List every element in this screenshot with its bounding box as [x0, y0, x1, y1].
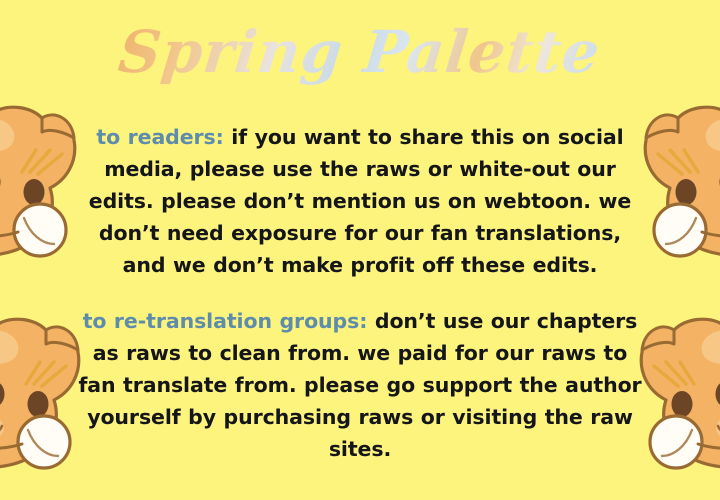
note-to-groups-lead: to re-translation groups:	[83, 309, 368, 333]
cat-eye-right	[672, 391, 693, 417]
poster-canvas: Spring Palette to readers: if you want t…	[0, 0, 720, 500]
note-to-readers: to readers: if you want to share this on…	[78, 121, 642, 281]
cat-figure	[0, 317, 79, 468]
cat-figure	[0, 105, 75, 256]
page-title: Spring Palette	[115, 14, 604, 90]
title-block: Spring Palette	[0, 14, 720, 90]
cat-eye-right	[676, 179, 697, 205]
note-to-retranslation-groups: to re-translation groups: don’t use our …	[78, 305, 642, 465]
cat-figure	[645, 105, 720, 256]
cat-figure	[641, 317, 720, 468]
cat-eye-right	[28, 391, 49, 417]
note-to-readers-lead: to readers:	[96, 125, 223, 149]
cat-eye-right	[24, 179, 45, 205]
